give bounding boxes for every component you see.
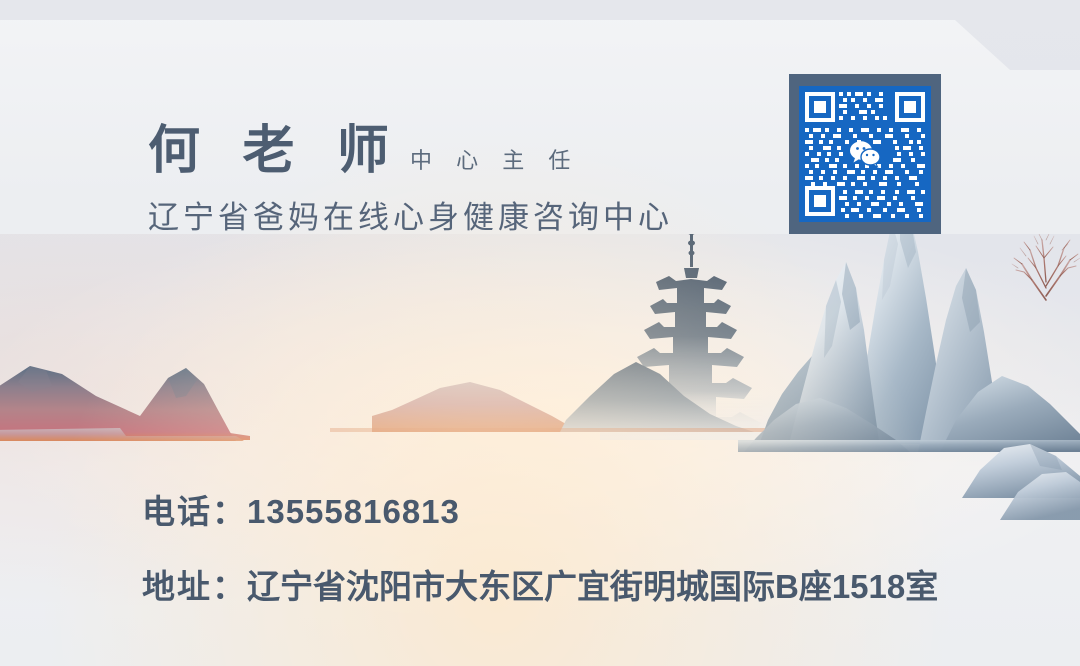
- phone-line: 电话：13555816813: [142, 485, 460, 533]
- address-label: 地址：: [142, 568, 247, 605]
- qr-finder-bottom-left: [805, 186, 835, 216]
- address-line: 地址：辽宁省沈阳市大东区广宜街明城国际B座1518室: [142, 560, 938, 608]
- person-title: 中 心 主 任: [410, 143, 579, 175]
- qr-finder-top-right: [895, 92, 925, 122]
- qr-finder-top-left: [805, 92, 835, 122]
- wechat-logo: [849, 138, 881, 168]
- address-value: 辽宁省沈阳市大东区广宜街明城国际B座1518室: [247, 568, 938, 605]
- wechat-qr-code[interactable]: [789, 74, 941, 234]
- person-name: 何 老 师: [148, 108, 403, 183]
- organization-name: 辽宁省爸妈在线心身健康咨询中心: [148, 192, 673, 237]
- qr-modules-area: [799, 86, 931, 222]
- phone-value: 13555816813: [247, 493, 460, 530]
- phone-label: 电话：: [142, 493, 247, 530]
- business-card: 何 老 师 中 心 主 任 辽宁省爸妈在线心身健康咨询中心 电话：1355581…: [0, 0, 1080, 666]
